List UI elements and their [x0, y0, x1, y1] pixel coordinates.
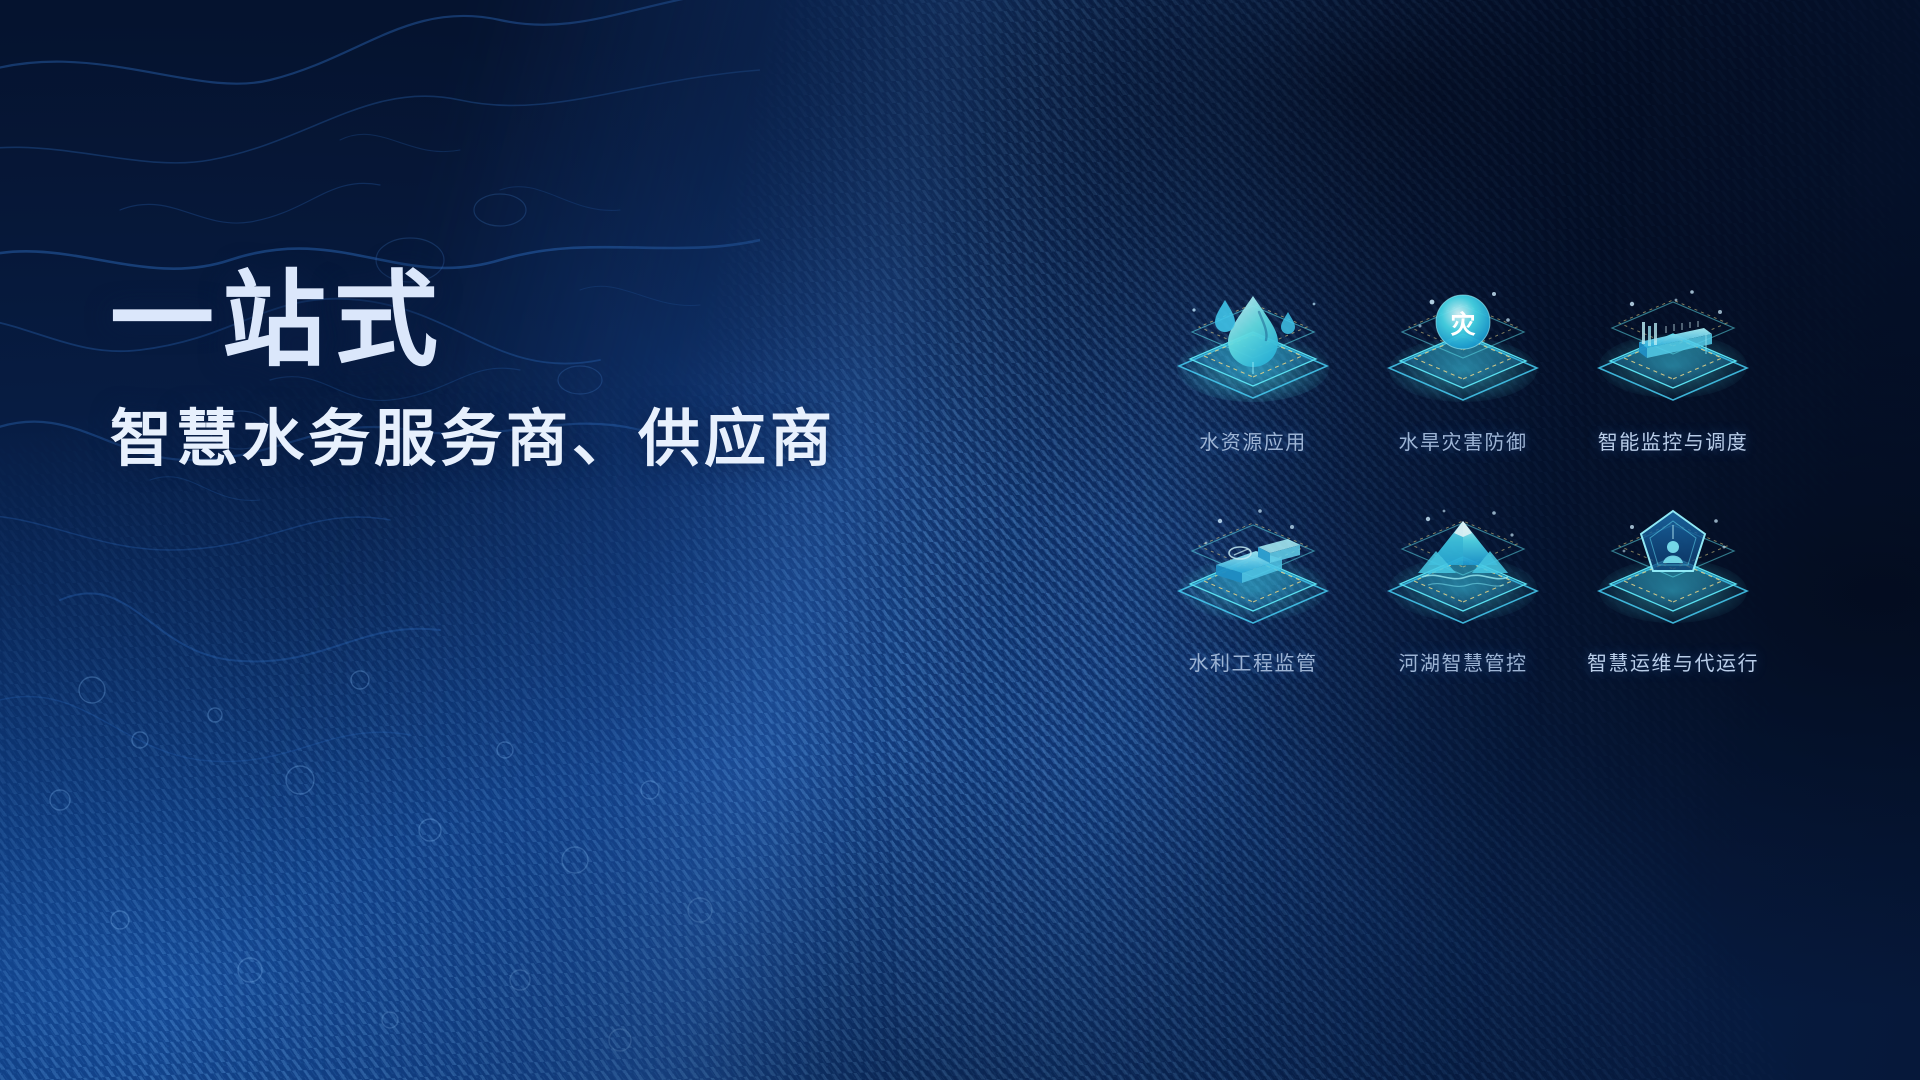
service-grid: 水资源应用 [1148, 282, 1778, 724]
service-label: 水旱灾害防御 [1399, 426, 1528, 455]
service-item-flood-drought-defense[interactable]: 灾 水旱灾害防御 [1358, 282, 1568, 503]
page-title: 一站式 [110, 268, 836, 374]
headline-block: 一站式 智慧水务服务商、供应商 [110, 268, 836, 475]
service-label: 水资源应用 [1199, 426, 1307, 455]
page-subtitle: 智慧水务服务商、供应商 [110, 404, 836, 475]
disaster-sphere-icon: 灾 [1374, 282, 1552, 420]
service-item-smart-ops-proxy-operation[interactable]: 智慧运维与代运行 [1568, 503, 1778, 724]
mountain-river-icon [1374, 503, 1552, 641]
dam-reservoir-icon [1584, 282, 1762, 420]
service-label: 智慧运维与代运行 [1587, 647, 1759, 676]
poster-stage: 一站式 智慧水务服务商、供应商 [0, 0, 1920, 1080]
svg-text:灾: 灾 [1450, 310, 1475, 339]
service-item-smart-monitoring-dispatch[interactable]: 智能监控与调度 [1568, 282, 1778, 503]
service-item-water-resource[interactable]: 水资源应用 [1148, 282, 1358, 503]
service-label: 智能监控与调度 [1598, 426, 1749, 455]
hydraulic-structure-icon [1164, 503, 1342, 641]
service-item-river-lake-smart-control[interactable]: 河湖智慧管控 [1358, 503, 1568, 724]
shield-pentagon-icon [1584, 503, 1762, 641]
water-droplet-icon [1164, 282, 1342, 420]
service-label: 水利工程监管 [1189, 647, 1318, 676]
service-label: 河湖智慧管控 [1399, 647, 1528, 676]
service-item-hydraulic-engineering-supervision[interactable]: 水利工程监管 [1148, 503, 1358, 724]
